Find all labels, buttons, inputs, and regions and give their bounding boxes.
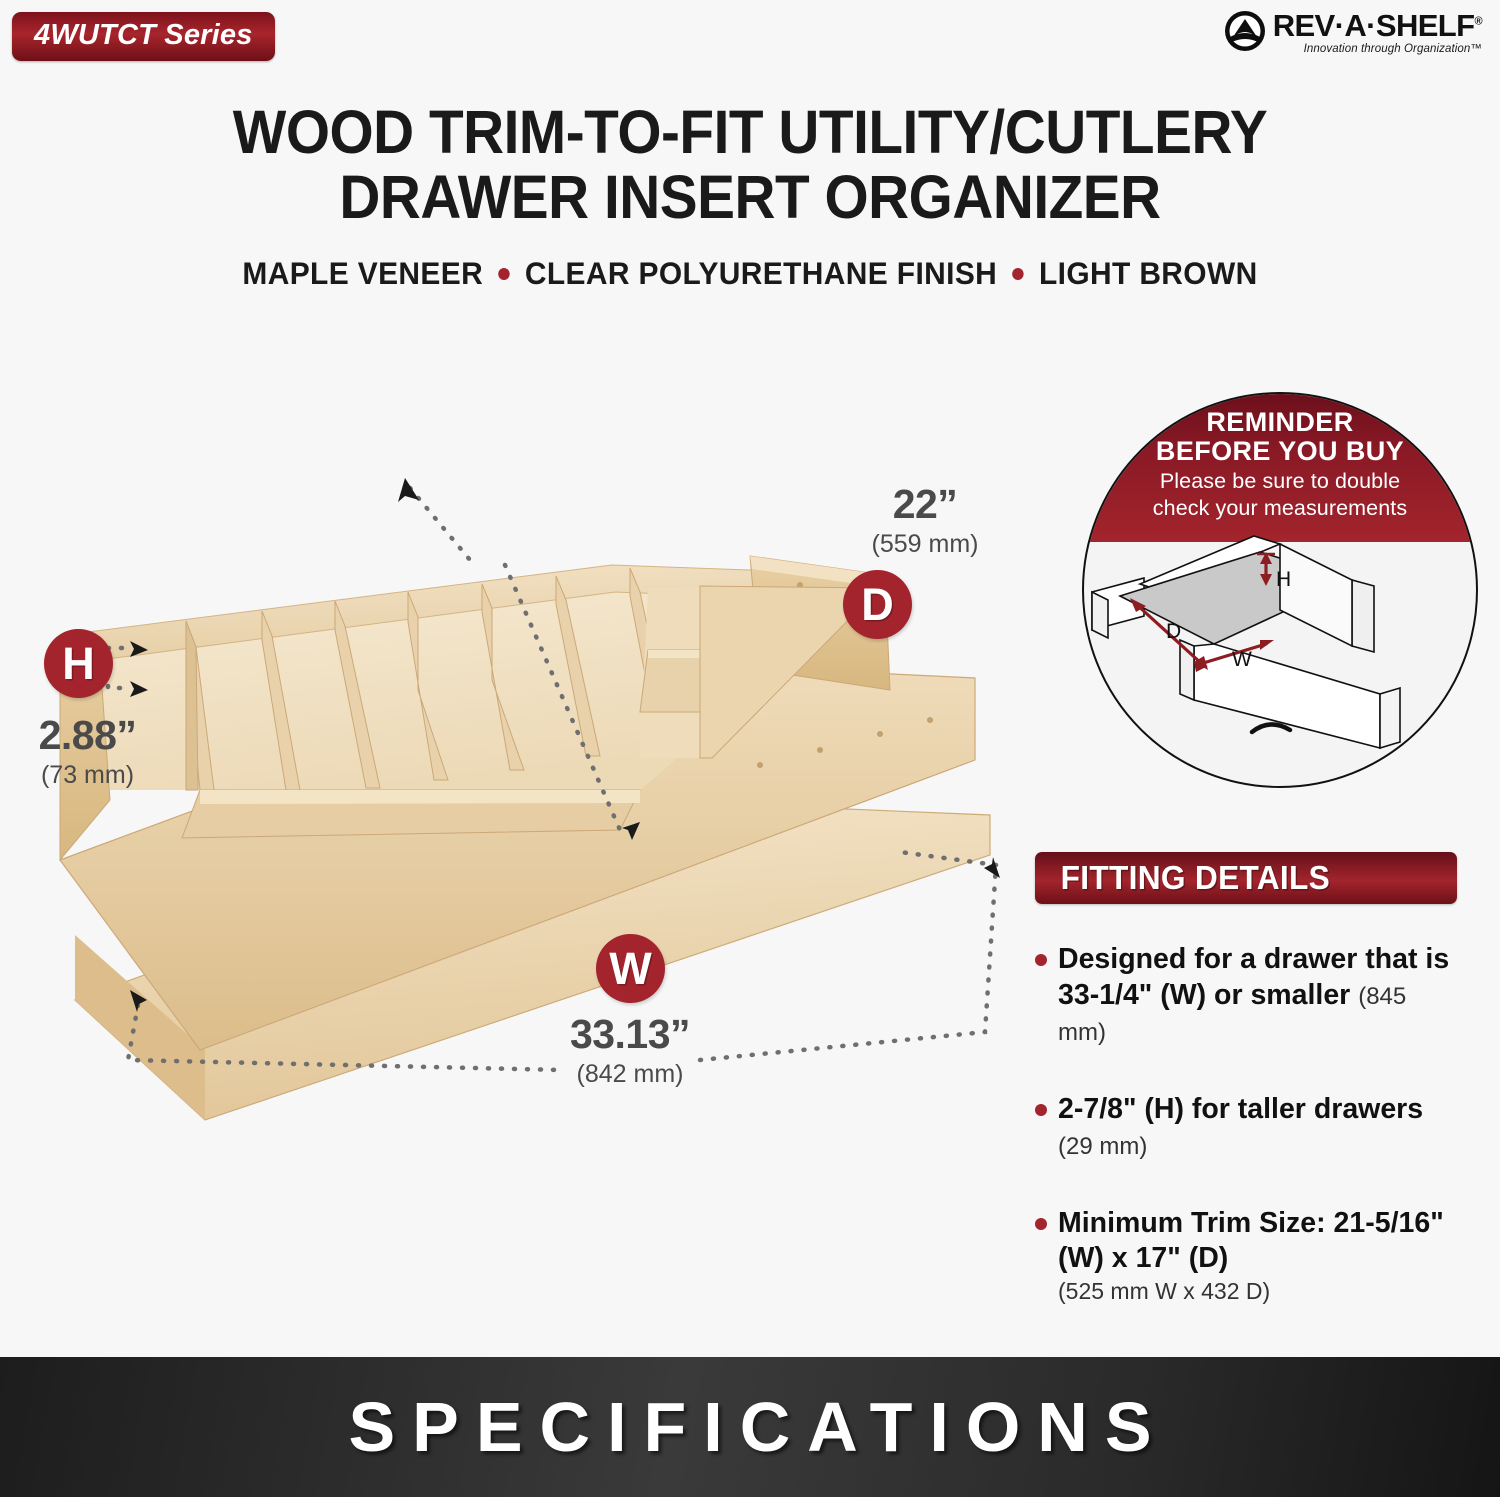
diagram-height-label: H — [1276, 568, 1291, 591]
fitting-item-2-text: 2-7/8" (H) for taller drawers — [1058, 1093, 1423, 1125]
product-subtitle: MAPLE VENEER CLEAR POLYURETHANE FINISH L… — [38, 255, 1463, 292]
fitting-details-title: FITTING DETAILS — [1061, 859, 1330, 897]
drawer-handle-icon — [1252, 724, 1290, 732]
fitting-item-1: Designed for a drawer that is 33-1/4" (W… — [1058, 942, 1457, 1050]
title-line-2: DRAWER INSERT ORGANIZER — [53, 165, 1448, 230]
width-value: 33.13” — [500, 1013, 760, 1056]
fitting-details-list: Designed for a drawer that is 33-1/4" (W… — [1035, 942, 1457, 1306]
reminder-body-line-1: Please be sure to double — [1084, 469, 1476, 494]
subtitle-item-1: MAPLE VENEER — [242, 255, 483, 292]
reminder-heading-line-2: BEFORE YOU BUY — [1084, 437, 1476, 466]
fitting-item-2: 2-7/8" (H) for taller drawers (29 mm) — [1058, 1092, 1457, 1164]
fitting-item-3-text: Minimum Trim Size: 21-5/16" (W) x 17" (D… — [1058, 1207, 1444, 1275]
fitting-item-3: Minimum Trim Size: 21-5/16" (W) x 17" (D… — [1058, 1206, 1457, 1306]
registered-mark: ® — [1474, 16, 1482, 28]
fitting-item-2-metric: (29 mm) — [1058, 1133, 1147, 1160]
title-line-1: WOOD TRIM-TO-FIT UTILITY/CUTLERY — [53, 100, 1448, 165]
rev-a-shelf-circle-mark-icon — [1224, 10, 1266, 52]
bullet-dot-icon — [1012, 268, 1023, 280]
brand-tagline: Innovation through Organization™ — [1304, 43, 1482, 55]
list-item: Designed for a drawer that is 33-1/4" (W… — [1035, 942, 1457, 1050]
bullet-dot-icon — [1035, 1104, 1047, 1116]
reminder-heading-line-1: REMINDER — [1084, 408, 1476, 437]
bullet-dot-icon — [498, 268, 509, 280]
depth-dimension-label: 22” (559 mm) — [800, 483, 1050, 561]
depth-marker: D — [843, 570, 912, 639]
bullet-dot-icon — [1035, 954, 1047, 966]
depth-metric: (559 mm) — [800, 528, 1050, 561]
height-dimension-label: 2.88” (73 mm) — [0, 714, 175, 792]
specifications-footer: SPECIFICATIONS — [0, 1357, 1500, 1497]
height-metric: (73 mm) — [0, 759, 175, 792]
fitting-details-header: FITTING DETAILS — [1035, 852, 1457, 904]
list-item: Minimum Trim Size: 21-5/16" (W) x 17" (D… — [1035, 1206, 1457, 1306]
diagram-depth-label: D — [1166, 620, 1181, 643]
depth-value: 22” — [800, 483, 1050, 526]
depth-leader-top — [410, 488, 470, 560]
height-marker: H — [44, 629, 113, 698]
subtitle-item-3: LIGHT BROWN — [1039, 255, 1258, 292]
fitting-details-panel: FITTING DETAILS Designed for a drawer th… — [1035, 852, 1457, 1348]
drawer-measurement-diagram: D W H — [1084, 534, 1476, 786]
bullet-dot-icon — [1035, 1218, 1047, 1230]
width-marker: W — [596, 934, 665, 1003]
diagram-width-label: W — [1232, 648, 1252, 671]
reminder-badge: REMINDER BEFORE YOU BUY Please be sure t… — [1082, 392, 1478, 788]
brand-name: REV·A·SHELF® — [1273, 10, 1482, 41]
height-value: 2.88” — [0, 714, 175, 757]
width-dimension-label: 33.13” (842 mm) — [500, 1013, 760, 1091]
brand-name-text: REV·A·SHELF — [1273, 8, 1475, 43]
reminder-body-line-2: check your measurements — [1084, 496, 1476, 521]
list-item: 2-7/8" (H) for taller drawers (29 mm) — [1035, 1092, 1457, 1164]
reminder-header: REMINDER BEFORE YOU BUY Please be sure t… — [1084, 394, 1476, 542]
product-spec-page: 4WUTCT Series REV·A·SHELF® Innovation th… — [0, 0, 1500, 1497]
page-title: WOOD TRIM-TO-FIT UTILITY/CUTLERY DRAWER … — [0, 100, 1500, 292]
brand-logo: REV·A·SHELF® Innovation through Organiza… — [1224, 10, 1482, 55]
series-badge: 4WUTCT Series — [12, 12, 275, 61]
fitting-item-3-metric: (525 mm W x 432 D) — [1058, 1278, 1457, 1306]
subtitle-item-2: CLEAR POLYURETHANE FINISH — [525, 255, 997, 292]
width-metric: (842 mm) — [500, 1058, 760, 1091]
footer-label: SPECIFICATIONS — [331, 1387, 1168, 1467]
